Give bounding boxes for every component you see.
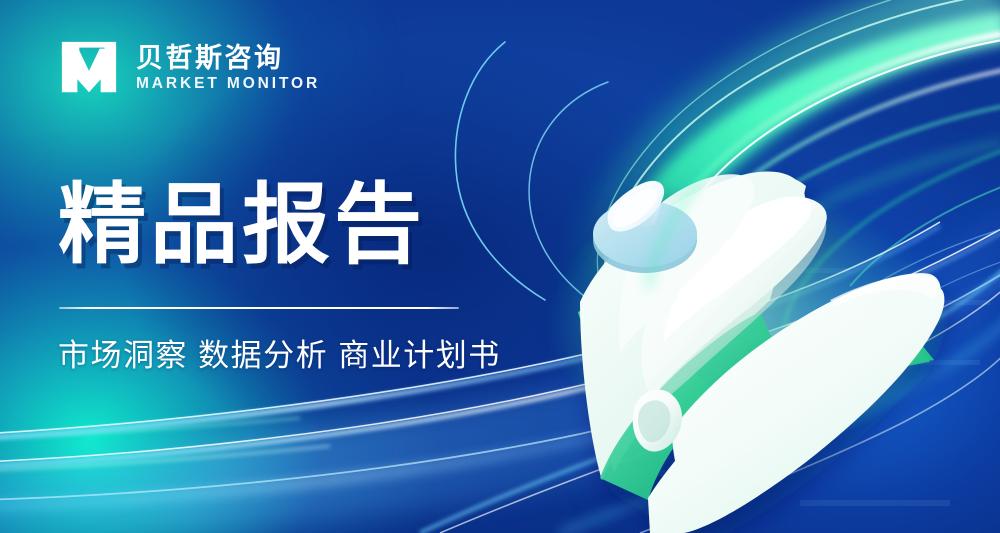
page-title: 精品报告 (58, 178, 426, 271)
report-banner: 贝哲斯咨询 MARKET MONITOR 精品报告 市场洞察 数据分析 商业计划… (0, 0, 1000, 533)
market-monitor-m-logo-icon (58, 36, 120, 98)
banner-content: 贝哲斯咨询 MARKET MONITOR 精品报告 市场洞察 数据分析 商业计划… (58, 0, 578, 533)
brand-name-cn: 贝哲斯咨询 (136, 43, 320, 73)
title-divider (59, 307, 459, 309)
brand-logo[interactable]: 贝哲斯咨询 MARKET MONITOR (58, 36, 320, 98)
open-book-icon (545, 171, 945, 533)
brand-text: 贝哲斯咨询 MARKET MONITOR (136, 42, 320, 92)
page-subtitle: 市场洞察 数据分析 商业计划书 (58, 337, 501, 376)
brand-name-en: MARKET MONITOR (136, 75, 320, 92)
